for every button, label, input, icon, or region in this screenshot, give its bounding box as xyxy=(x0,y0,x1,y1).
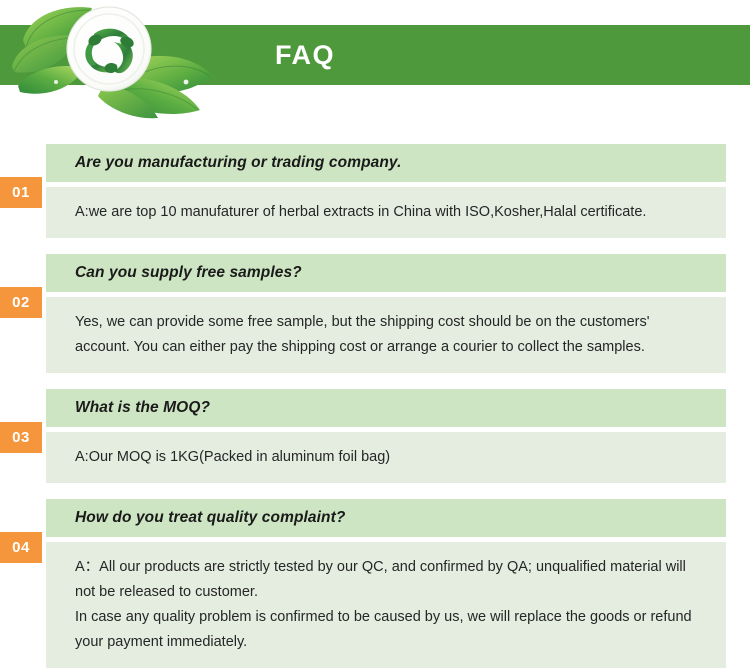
faq-item: 03 What is the MOQ? A:Our MOQ is 1KG(Pac… xyxy=(0,389,750,483)
faq-answer-line: In case any quality problem is confirmed… xyxy=(75,605,708,655)
faq-question[interactable]: Are you manufacturing or trading company… xyxy=(46,144,726,182)
faq-number-badge: 02 xyxy=(0,287,42,318)
faq-question[interactable]: What is the MOQ? xyxy=(46,389,726,427)
faq-answer-line: A:we are top 10 manufaturer of herbal ex… xyxy=(75,200,708,225)
faq-item: 04 How do you treat quality complaint? A… xyxy=(0,499,750,668)
faq-answer: A:Our MOQ is 1KG(Packed in aluminum foil… xyxy=(46,432,726,483)
faq-number-badge: 04 xyxy=(0,532,42,563)
faq-answer-line: A:Our MOQ is 1KG(Packed in aluminum foil… xyxy=(75,445,708,470)
faq-item: 02 Can you supply free samples? Yes, we … xyxy=(0,254,750,373)
faq-body: How do you treat quality complaint? A：Al… xyxy=(46,499,726,668)
faq-number-badge: 03 xyxy=(0,422,42,453)
faq-answer-line: A：All our products are strictly tested b… xyxy=(75,555,708,605)
faq-answer-line: Yes, we can provide some free sample, bu… xyxy=(75,310,708,360)
faq-question[interactable]: How do you treat quality complaint? xyxy=(46,499,726,537)
faq-number-badge: 01 xyxy=(0,177,42,208)
faq-list: 01 Are you manufacturing or trading comp… xyxy=(0,122,750,668)
faq-answer: Yes, we can provide some free sample, bu… xyxy=(46,297,726,373)
faq-body: Can you supply free samples? Yes, we can… xyxy=(46,254,726,373)
faq-question[interactable]: Can you supply free samples? xyxy=(46,254,726,292)
page-header: FAQ xyxy=(0,0,750,122)
faq-answer: A:we are top 10 manufaturer of herbal ex… xyxy=(46,187,726,238)
faq-item: 01 Are you manufacturing or trading comp… xyxy=(0,144,750,238)
faq-body: What is the MOQ? A:Our MOQ is 1KG(Packed… xyxy=(46,389,726,483)
faq-answer: A：All our products are strictly tested b… xyxy=(46,542,726,668)
faq-body: Are you manufacturing or trading company… xyxy=(46,144,726,238)
page-title: FAQ xyxy=(0,38,610,72)
